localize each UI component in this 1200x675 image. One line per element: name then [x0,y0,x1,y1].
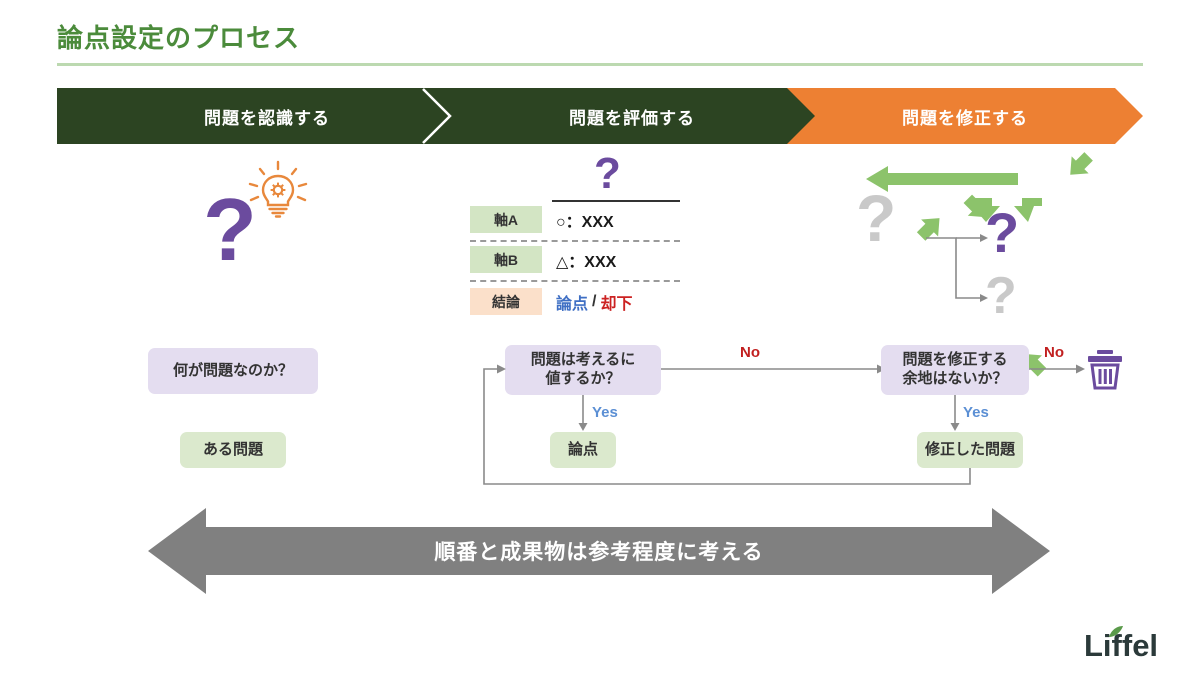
table-divider-2 [470,280,680,282]
table-key-axis-b: 軸B [470,246,542,273]
banner-step-fix-label: 問題を修正する [902,104,1028,129]
label-no-2: No [1044,344,1064,361]
slide-root: 論点設定のプロセス 問題を認識する 問題を評価する 問題を修正する [0,0,1200,675]
process-banner: 問題を認識する 問題を評価する 問題を修正する [57,88,1143,144]
page-title: 論点設定のプロセス [57,18,300,55]
conclusion-separator: / [588,293,600,311]
table-key-axis-b-label: 軸B [494,250,518,270]
box-a-problem[interactable]: ある問題 [180,432,286,468]
fix-branch-connector [926,228,992,308]
question-mark-purple-recognize: ? [203,186,257,274]
table-top-rule [552,200,680,202]
table-value-axis-b: △：XXX [556,246,616,273]
table-value-conclusion: 論点 / 却下 [556,288,632,315]
box-what-is-the-problem[interactable]: 何が問題なのか？ [148,348,318,394]
conclusion-option-keep: 論点 [556,290,588,314]
table-key-axis-a: 軸A [470,206,542,233]
feedback-loop-arrow [478,362,978,490]
title-divider [57,63,1143,66]
conclusion-option-reject: 却下 [600,290,632,314]
bottom-double-arrow: 順番と成果物は参考程度に考える [148,508,1050,594]
table-divider-1 [470,240,680,242]
label-no-1: No [740,344,760,361]
banner-step-evaluate-label: 問題を評価する [569,104,695,129]
banner-step-recognize-label: 問題を認識する [204,104,330,129]
banner-step-recognize[interactable]: 問題を認識する [57,88,477,144]
arrow-no-2 [1029,362,1085,376]
box-a-problem-label: ある問題 [203,441,263,460]
banner-step-fix[interactable]: 問題を修正する [787,88,1143,144]
banner-step-evaluate[interactable]: 問題を評価する [422,88,842,144]
question-mark-gray-left: ? [856,185,896,251]
table-key-conclusion: 結論 [470,288,542,315]
question-mark-purple-evaluate: ? [594,152,621,196]
box-what-is-the-problem-label: 何が問題なのか？ [173,362,293,381]
trash-can-icon[interactable] [1088,350,1122,388]
table-key-conclusion-label: 結論 [492,292,520,312]
bottom-double-arrow-label: 順番と成果物は参考程度に考える [434,536,763,566]
leaf-icon [1108,626,1124,638]
table-key-axis-a-label: 軸A [494,210,518,230]
brand-logo: Liffel [1084,628,1158,664]
table-value-axis-a: ○：XXX [556,206,614,233]
